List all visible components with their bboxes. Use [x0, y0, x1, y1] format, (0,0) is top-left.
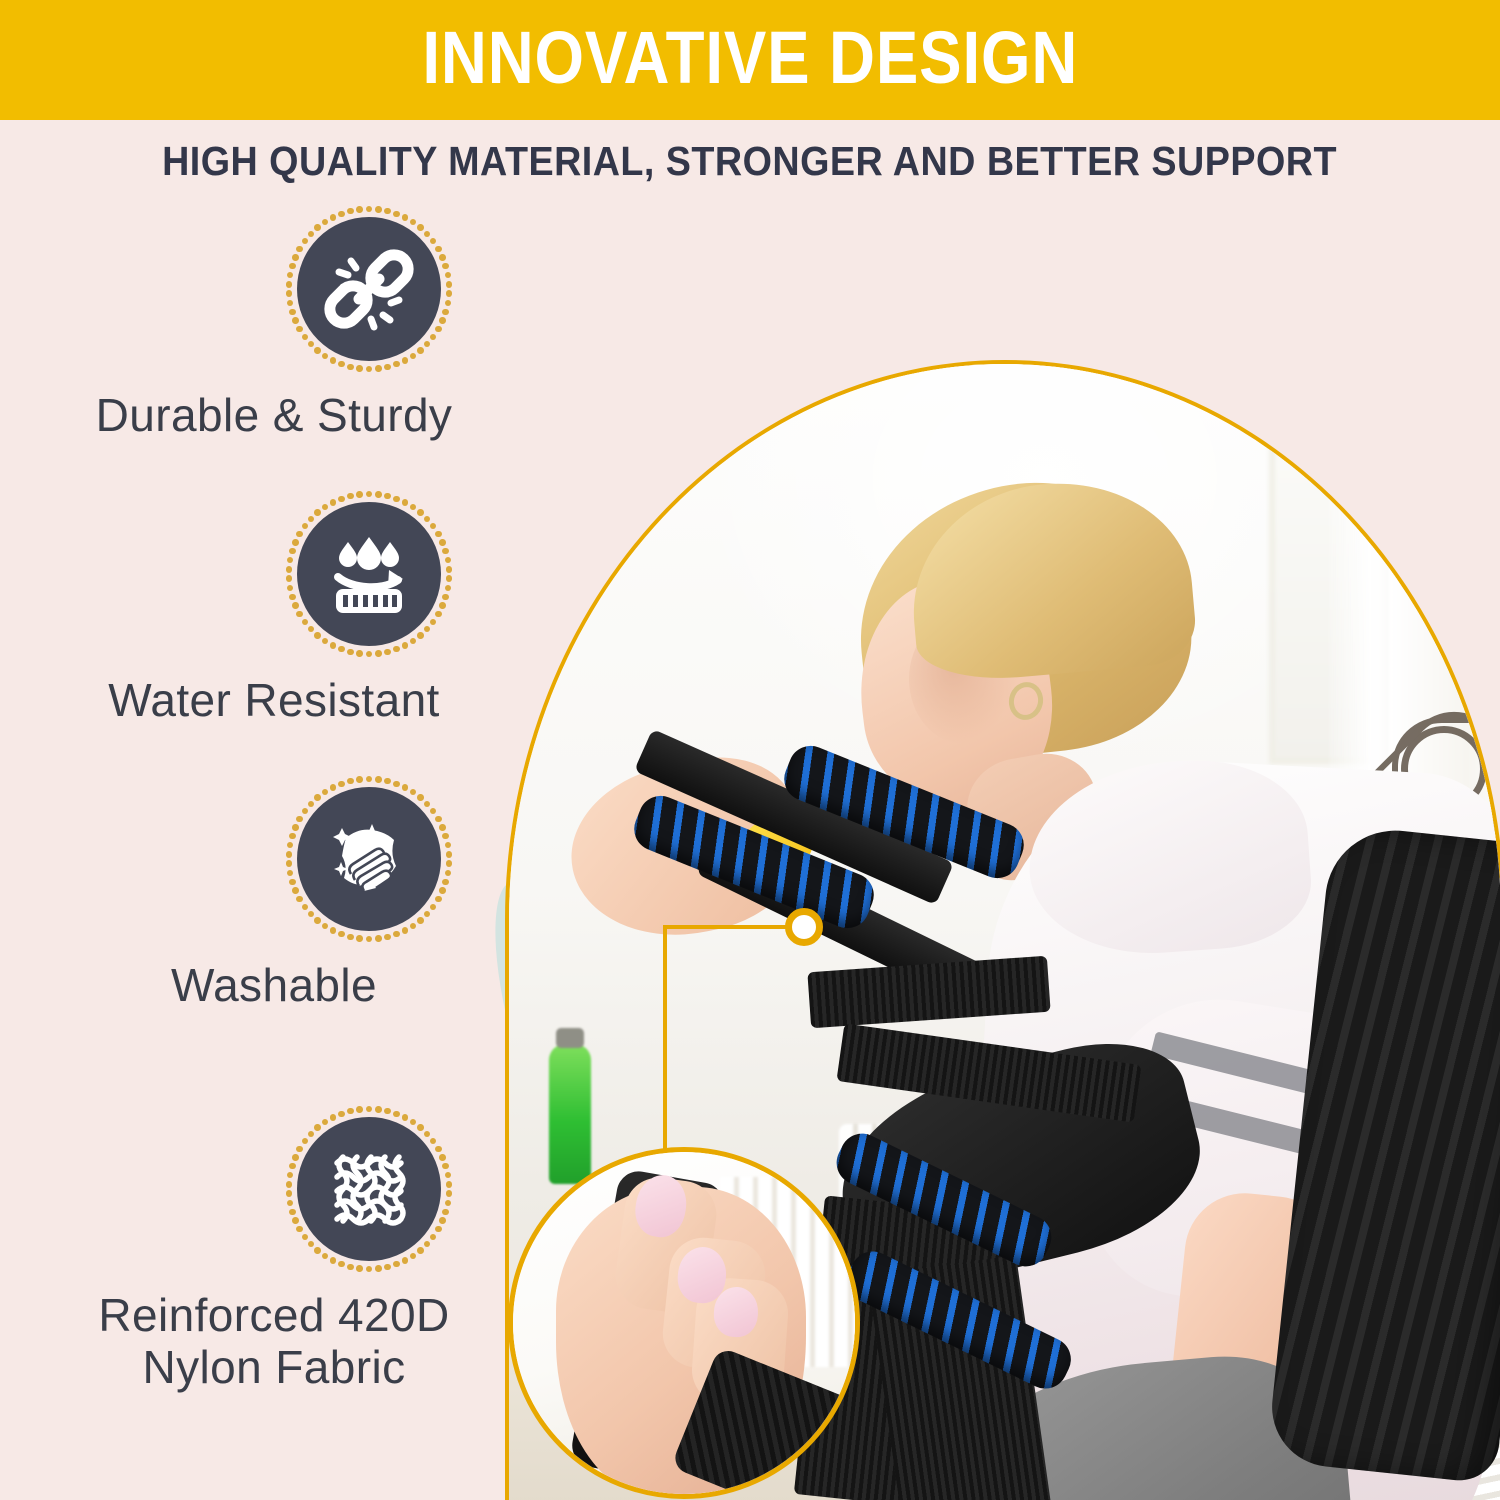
woven-fabric-icon	[321, 1141, 417, 1237]
feature-item-durable: Durable & Sturdy	[0, 205, 548, 441]
icon-wrap	[285, 490, 453, 658]
hand-wiping-cloth-icon	[320, 810, 418, 908]
handle-grip-closeup	[508, 1147, 860, 1499]
icon-wrap	[285, 205, 453, 373]
callout-line-vertical	[663, 925, 667, 1170]
feature-item-washable: Washable	[0, 775, 548, 1011]
page-title: INNOVATIVE DESIGN	[422, 21, 1078, 99]
page-subtitle: HIGH QUALITY MATERIAL, STRONGER AND BETT…	[163, 138, 1338, 185]
feature-label: Reinforced 420D Nylon Fabric	[0, 1289, 548, 1394]
chain-link-icon	[321, 241, 417, 337]
icon-circle	[297, 502, 441, 646]
icon-wrap	[285, 1105, 453, 1273]
feature-label: Durable & Sturdy	[0, 389, 548, 441]
subtitle-row: HIGH QUALITY MATERIAL, STRONGER AND BETT…	[0, 120, 1500, 202]
handle-callout-dot	[785, 908, 823, 946]
icon-circle	[297, 1117, 441, 1261]
feature-item-water-resistant: Water Resistant	[0, 490, 548, 726]
infographic-page: INNOVATIVE DESIGN HIGH QUALITY MATERIAL,…	[0, 0, 1500, 1500]
feature-label: Water Resistant	[0, 674, 548, 726]
feature-label: Washable	[0, 959, 548, 1011]
icon-circle	[297, 217, 441, 361]
icon-circle	[297, 787, 441, 931]
water-droplets-fabric-icon	[320, 525, 418, 623]
feature-item-nylon-fabric: Reinforced 420D Nylon Fabric	[0, 1105, 548, 1394]
icon-wrap	[285, 775, 453, 943]
inset-photo	[508, 1147, 860, 1499]
header-band: INNOVATIVE DESIGN	[0, 0, 1500, 120]
callout-line-horizontal	[663, 925, 793, 929]
photo-stage	[505, 360, 1500, 1500]
